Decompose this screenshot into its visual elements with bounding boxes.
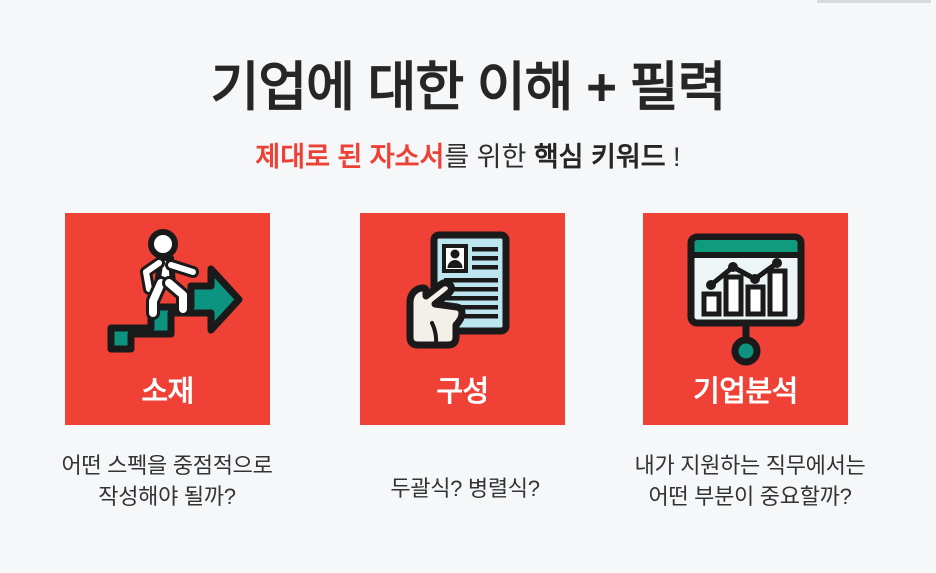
caption-gieopbunseok: 내가 지원하는 직무에서는 어떤 부분이 중요할까? [600,450,900,512]
subtitle-exclamation: ! [666,142,681,172]
person-climbing-stairs-arrow-icon [65,227,270,367]
subtitle-accent-text: 제대로 된 자소서 [255,142,444,172]
caption-line: 어떤 스펙을 중점적으로 [22,450,312,481]
keyword-card-row: 소재 [0,213,936,425]
hand-holding-resume-icon [360,227,565,367]
presentation-chart-board-icon [643,227,848,367]
keyword-card-label: 기업분석 [643,377,848,409]
keyword-card-sojae[interactable]: 소재 [65,213,270,425]
keyword-card-guseong[interactable]: 구성 [360,213,565,425]
caption-sojae: 어떤 스펙을 중점적으로 작성해야 될까? [22,450,312,512]
caption-line: 작성해야 될까? [22,481,312,512]
keyword-card-label: 구성 [360,377,565,409]
infographic-stage: 기업에 대한 이해 + 필력 제대로 된 자소서를 위한 핵심 키워드 ! [0,0,936,573]
subtitle-strong-text: 핵심 키워드 [534,142,666,172]
subtitle-middle-text: 를 위한 [444,142,534,172]
page-subtitle: 제대로 된 자소서를 위한 핵심 키워드 ! [0,141,936,173]
keyword-card-label: 소재 [65,377,270,409]
caption-line: 내가 지원하는 직무에서는 [600,450,900,481]
caption-line: 두괄식? 병렬식? [340,473,590,504]
page-title: 기업에 대한 이해 + 필력 [0,58,936,119]
keyword-card-gieopbunseok[interactable]: 기업분석 [643,213,848,425]
caption-guseong: 두괄식? 병렬식? [340,473,590,504]
caption-line: 어떤 부분이 중요할까? [600,481,900,512]
caption-row: 어떤 스펙을 중점적으로 작성해야 될까? 두괄식? 병렬식? 내가 지원하는 … [0,450,936,540]
